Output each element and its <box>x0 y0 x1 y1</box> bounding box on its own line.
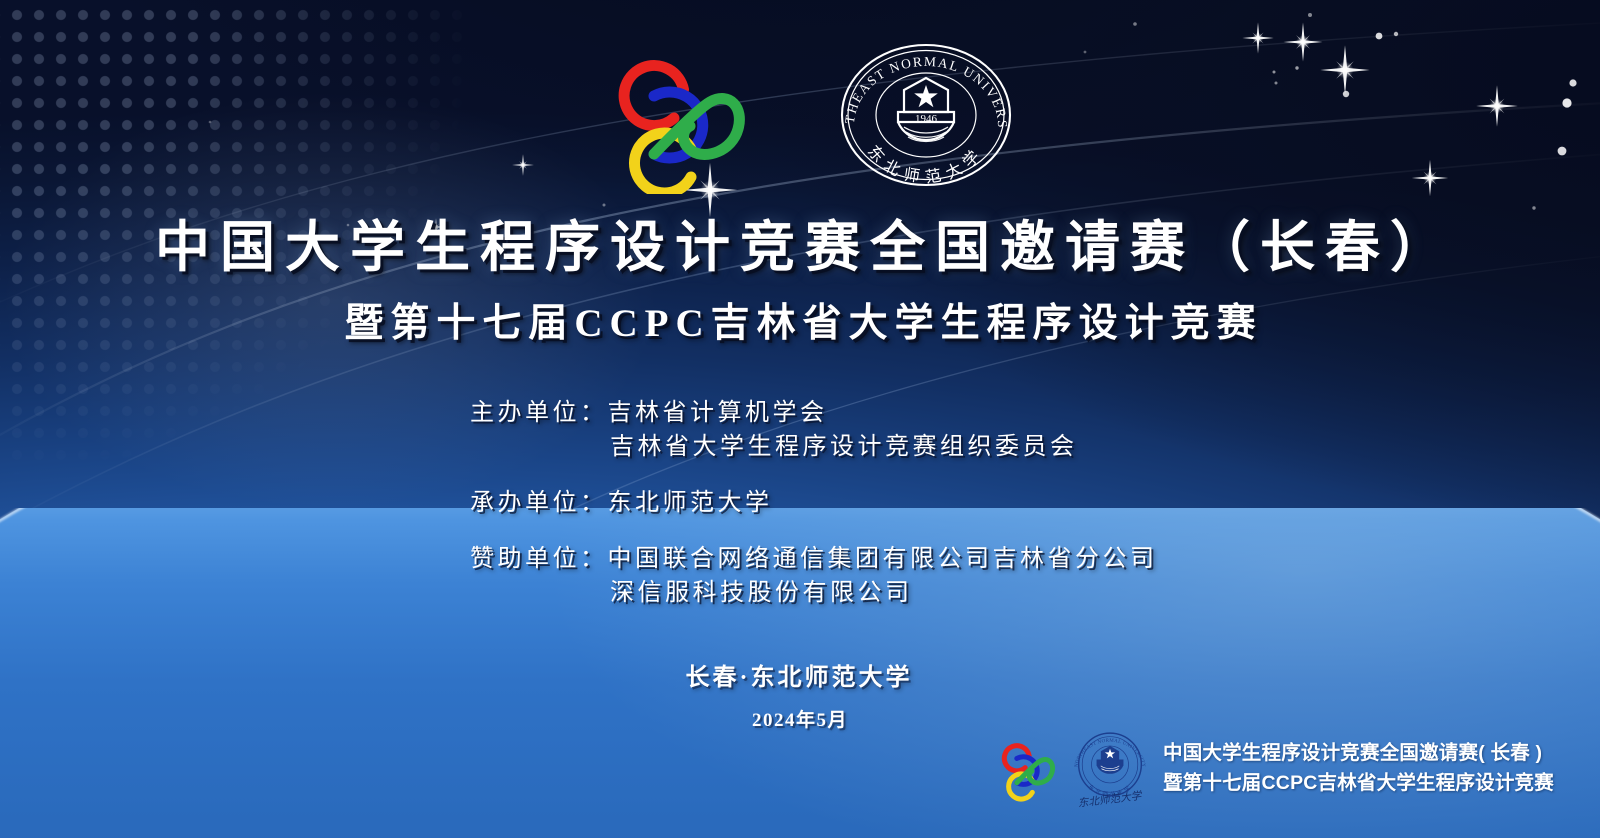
organizer-value: 东北师范大学 <box>608 490 773 516</box>
organizer-row-host: 主办单位：吉林省计算机学会 吉林省大学生程序设计竞赛组织委员会 <box>470 396 1158 464</box>
organizer-line: 主办单位：吉林省计算机学会 <box>470 396 1158 430</box>
northeast-normal-university-seal: NORTHEAST NORMAL UNIVERSITY 东北师范大学 1946 <box>828 34 1024 201</box>
footer-line-2: 暨第十七届CCPC吉林省大学生程序设计竞赛 <box>1163 768 1554 798</box>
ccpc-logo-small <box>985 729 1057 808</box>
organizer-label: 主办单位： <box>470 400 608 426</box>
poster-main-title: 中国大学生程序设计竞赛全国邀请赛（长春） <box>0 216 1600 280</box>
organizer-info-block: 主办单位：吉林省计算机学会 吉林省大学生程序设计竞赛组织委员会 承办单位：东北师… <box>470 396 1158 610</box>
poster-canvas: NORTHEAST NORMAL UNIVERSITY 东北师范大学 1946 … <box>0 0 1600 838</box>
poster-sub-title: 暨第十七届CCPC吉林省大学生程序设计竞赛 <box>0 292 1600 348</box>
organizer-value: 吉林省计算机学会 <box>608 400 828 426</box>
poster-title-block: 中国大学生程序设计竞赛全国邀请赛（长春） 暨第十七届CCPC吉林省大学生程序设计… <box>0 216 1600 348</box>
ccpc-logo <box>578 34 750 199</box>
organizer-line: 吉林省大学生程序设计竞赛组织委员会 <box>470 430 1158 464</box>
footer-branding-bar: NORTHEAST NORMAL UNIVERSITY 东北师范大学 东北师范大… <box>985 726 1554 810</box>
svg-text:1946: 1946 <box>915 113 938 125</box>
organizer-row-sponsor: 赞助单位：中国联合网络通信集团有限公司吉林省分公司 深信服科技股份有限公司 <box>470 542 1158 610</box>
organizer-line: 赞助单位：中国联合网络通信集团有限公司吉林省分公司 <box>470 542 1158 576</box>
organizer-value: 中国联合网络通信集团有限公司吉林省分公司 <box>608 546 1158 572</box>
organizer-line: 深信服科技股份有限公司 <box>470 576 1158 610</box>
footer-line-1: 中国大学生程序设计竞赛全国邀请赛( 长春 ) <box>1163 738 1554 768</box>
organizer-label: 承办单位： <box>470 490 608 516</box>
svg-text:东北师范大学: 东北师范大学 <box>864 142 988 187</box>
organizer-line: 承办单位：东北师范大学 <box>470 486 1158 520</box>
venue-text: 长春·东北师范大学 <box>0 657 1600 692</box>
northeast-normal-university-seal-small: NORTHEAST NORMAL UNIVERSITY 东北师范大学 东北师范大… <box>1067 726 1153 810</box>
venue-block: 长春·东北师范大学 2024年5月 <box>0 657 1600 732</box>
footer-event-name: 中国大学生程序设计竞赛全国邀请赛( 长春 ) 暨第十七届CCPC吉林省大学生程序… <box>1163 738 1554 798</box>
organizer-row-undertaker: 承办单位：东北师范大学 <box>470 486 1158 520</box>
organizer-label: 赞助单位： <box>470 546 608 572</box>
